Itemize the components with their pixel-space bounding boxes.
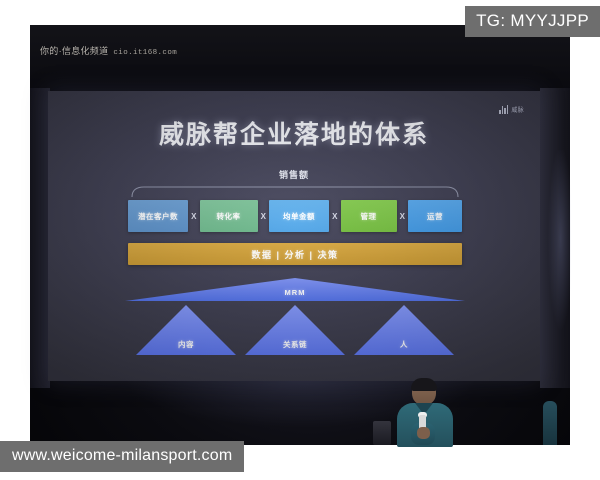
cio-channel-name: 你的·信息化频道 [40,44,108,57]
screenshot-root: 威脉 威脉帮企业落地的体系 销售额 潜在客户数 X 转化率 X 均单金额 X 管… [0,0,600,480]
sales-formula-row: 潜在客户数 X 转化率 X 均单金额 X 管理 X 运营 [128,199,462,233]
data-analysis-decision-label: 数据 | 分析 | 决策 [251,248,338,261]
waveform-icon [499,105,508,114]
cio-channel-watermark: 你的·信息化频道 cio.it168.com [40,44,177,57]
pillar-relationship-chain: 关系链 [243,303,347,357]
pillar-people: 人 [352,303,456,357]
formula-operator-4: X [397,212,407,221]
formula-box-average-order: 均单金额 [269,200,329,232]
second-person-silhouette [543,401,557,445]
mrm-layer: MRM [124,277,466,303]
formula-bracket [130,184,460,198]
formula-box-management: 管理 [341,200,397,232]
laptop-on-podium [373,421,391,445]
mrm-label: MRM [124,288,466,297]
pillar-relationship-chain-label: 关系链 [243,339,347,350]
stage-wall-left [30,88,50,388]
conference-photo: 威脉 威脉帮企业落地的体系 销售额 潜在客户数 X 转化率 X 均单金额 X 管… [0,0,600,480]
pillar-content: 内容 [134,303,238,357]
presenter-hand [417,427,430,439]
data-analysis-decision-bar: 数据 | 分析 | 决策 [128,243,462,265]
presenter-figure [393,379,457,445]
slide-logo-label: 威脉 [511,105,524,114]
pillars-row: 内容 关系链 [124,303,466,359]
pillar-people-label: 人 [352,339,456,350]
stage-floor-glow [30,372,570,446]
cio-channel-url: cio.it168.com [113,49,177,57]
sales-total-label: 销售额 [48,168,540,181]
formula-box-operations: 运营 [408,200,462,232]
pillar-content-label: 内容 [134,339,238,350]
site-url-badge: www.weicome-milansport.com [0,441,244,472]
formula-operator-2: X [258,212,268,221]
formula-box-potential-customers: 潜在客户数 [128,200,188,232]
slide-brand-logo: 威脉 [499,105,524,114]
formula-box-conversion-rate: 转化率 [200,200,258,232]
formula-operator-1: X [189,212,199,221]
stage-light-glow [545,150,571,370]
projected-slide: 威脉 威脉帮企业落地的体系 销售额 潜在客户数 X 转化率 X 均单金额 X 管… [48,91,540,381]
formula-operator-3: X [330,212,340,221]
slide-title: 威脉帮企业落地的体系 [48,115,540,151]
presenter-hair [411,378,437,391]
telegram-handle-badge: TG: MYYJJPP [465,6,600,37]
